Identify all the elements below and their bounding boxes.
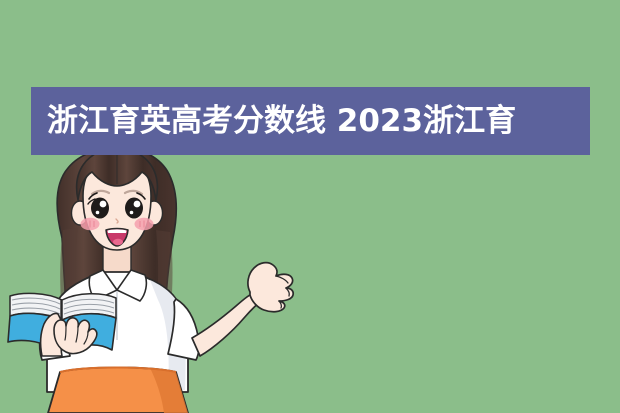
blush-left — [81, 218, 100, 230]
image-canvas: 浙江育英高考分数线 2023浙江育 — [0, 0, 620, 413]
student-illustration — [0, 0, 620, 413]
blush-right — [135, 218, 154, 230]
mouth-teeth — [108, 229, 127, 233]
mouth-tongue — [113, 239, 123, 245]
banner-title-text: 浙江育英高考分数线 2023浙江育 — [31, 106, 516, 137]
title-banner: 浙江育英高考分数线 2023浙江育 — [31, 87, 590, 155]
